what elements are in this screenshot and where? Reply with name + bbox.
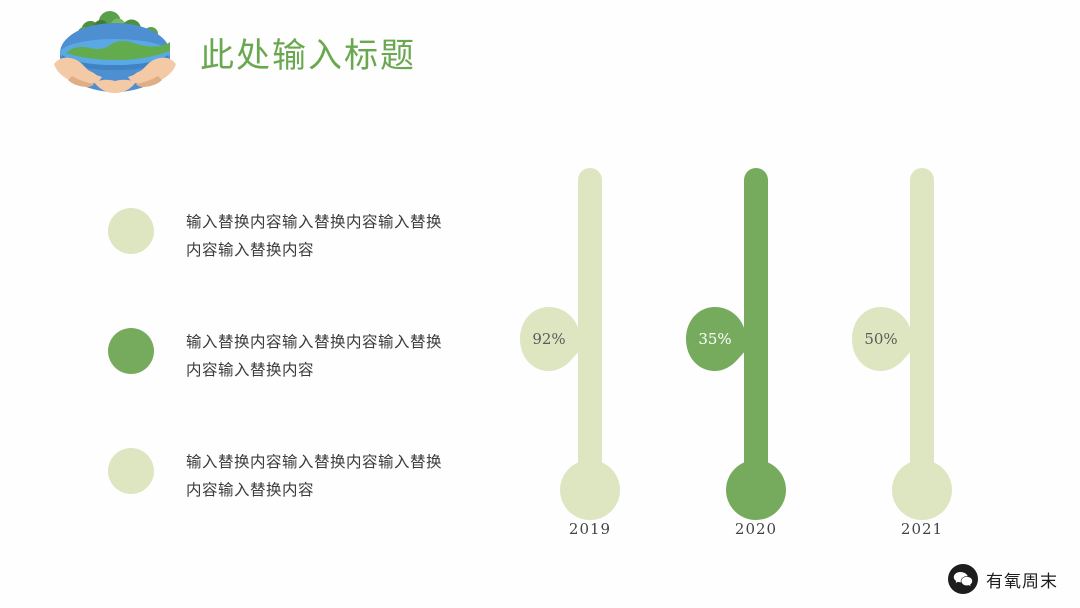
value-label: 50% — [850, 305, 912, 373]
chart-bar-2019: 92% 2019 — [530, 140, 650, 560]
legend-dot-icon — [108, 328, 154, 374]
category-label: 2021 — [862, 520, 982, 538]
bar-bulb — [560, 460, 620, 520]
legend-item-label: 输入替换内容输入替换内容输入替换内容输入替换内容 — [186, 328, 446, 384]
page-title: 此处输入标题 — [200, 28, 416, 77]
value-callout: 50% — [850, 305, 924, 373]
legend-item-label: 输入替换内容输入替换内容输入替换内容输入替换内容 — [186, 448, 446, 504]
legend: 输入替换内容输入替换内容输入替换内容输入替换内容 输入替换内容输入替换内容输入替… — [108, 196, 468, 556]
watermark: 有氧周末 — [948, 564, 1058, 594]
value-callout: 92% — [518, 305, 592, 373]
watermark-label: 有氧周末 — [986, 567, 1058, 592]
legend-dot-icon — [108, 208, 154, 254]
value-callout: 35% — [684, 305, 758, 373]
earth-in-hands-with-trees-icon — [46, 6, 184, 106]
bar-bulb — [892, 460, 952, 520]
value-label: 35% — [684, 305, 746, 373]
legend-dot-icon — [108, 448, 154, 494]
slide: 此处输入标题 输入替换内容输入替换内容输入替换内容输入替换内容 输入替换内容输入… — [0, 0, 1080, 608]
category-label: 2019 — [530, 520, 650, 538]
thermometer-chart: 92% 2019 35% 2020 50% — [470, 140, 1050, 560]
value-label: 92% — [518, 305, 580, 373]
chart-bar-2020: 35% 2020 — [696, 140, 816, 560]
list-item: 输入替换内容输入替换内容输入替换内容输入替换内容 — [108, 316, 468, 436]
list-item: 输入替换内容输入替换内容输入替换内容输入替换内容 — [108, 436, 468, 556]
wechat-icon — [948, 564, 978, 594]
chart-bar-2021: 50% 2021 — [862, 140, 982, 560]
legend-item-label: 输入替换内容输入替换内容输入替换内容输入替换内容 — [186, 208, 446, 264]
category-label: 2020 — [696, 520, 816, 538]
list-item: 输入替换内容输入替换内容输入替换内容输入替换内容 — [108, 196, 468, 316]
bar-bulb — [726, 460, 786, 520]
